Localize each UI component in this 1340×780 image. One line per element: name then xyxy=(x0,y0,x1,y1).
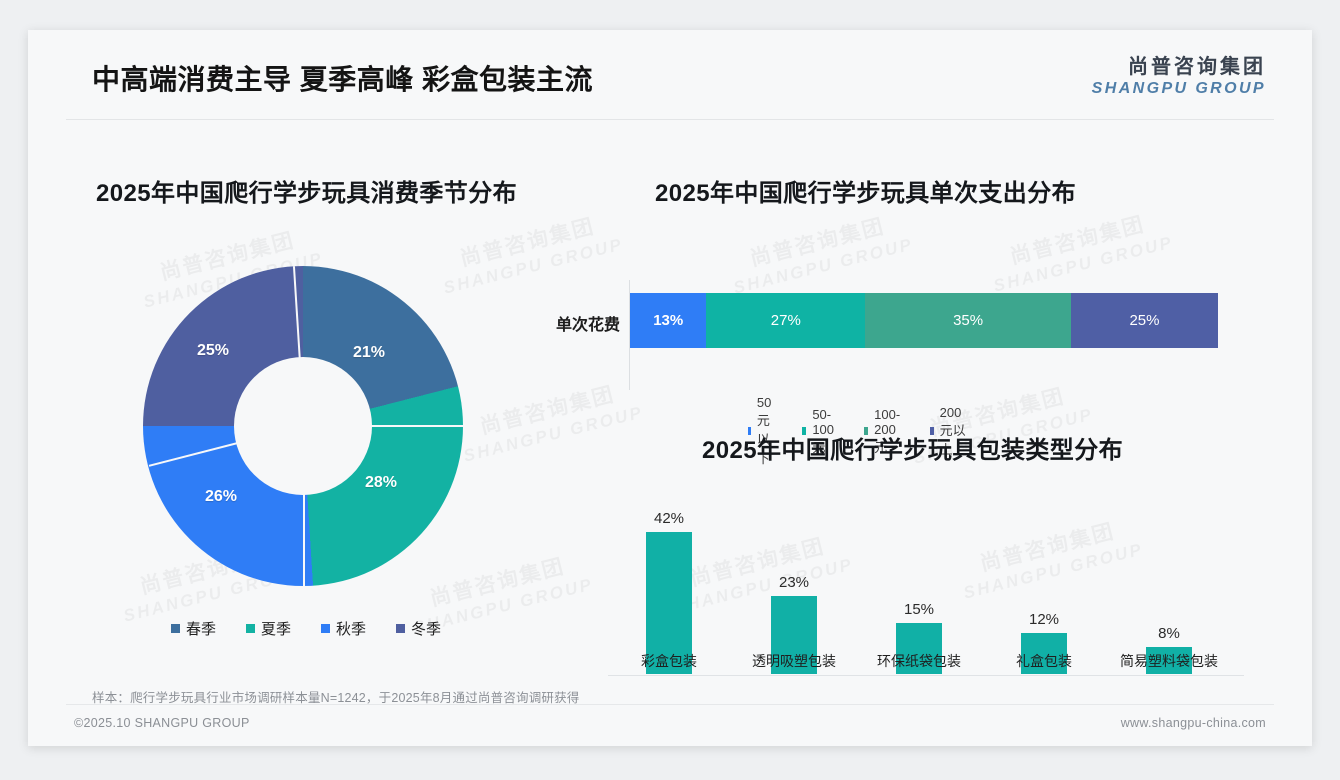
watermark-en: SHANGPU GROUP xyxy=(731,234,915,299)
slide-header: 中高端消费主导 夏季高峰 彩盒包装主流 尚普咨询集团 SHANGPU GROUP xyxy=(28,30,1312,120)
column-category-label: 礼盒包装 xyxy=(1016,651,1072,671)
donut-slice-label: 25% xyxy=(197,342,229,360)
legend-swatch-spring xyxy=(171,624,180,633)
donut-separator xyxy=(303,426,305,586)
column-chart-axis-line xyxy=(608,675,1244,676)
legend-item-autumn[interactable]: 秋季 xyxy=(321,618,366,639)
donut-separator xyxy=(304,425,464,427)
donut-chart-title: 2025年中国爬行学步玩具消费季节分布 xyxy=(96,173,517,208)
legend-item-spring[interactable]: 春季 xyxy=(171,618,216,639)
donut-chart: 21% 28% 26% 25% xyxy=(143,266,463,586)
watermark-cn: 尚普咨询集团 xyxy=(725,208,910,278)
column-group[interactable]: 12% 礼盒包装 xyxy=(1021,633,1067,675)
stacked-bar-segment-4[interactable]: 25% xyxy=(1071,293,1218,348)
legend-swatch-summer xyxy=(246,624,255,633)
column-value-label: 12% xyxy=(1029,611,1059,628)
column-category-label: 透明吸塑包装 xyxy=(752,651,836,671)
brand-logo: 尚普咨询集团 SHANGPU GROUP xyxy=(1092,56,1266,98)
watermark-en: SHANGPU GROUP xyxy=(441,234,625,299)
footer-website: www.shangpu-china.com xyxy=(1121,716,1266,730)
legend-label-winter: 冬季 xyxy=(411,618,441,639)
watermark: 尚普咨询集团 SHANGPU GROUP xyxy=(725,208,916,299)
stacked-bar-segment-2[interactable]: 27% xyxy=(706,293,865,348)
legend-label-spring: 春季 xyxy=(186,618,216,639)
donut-ring: 21% 28% 26% 25% xyxy=(143,266,463,586)
donut-slice-label: 26% xyxy=(205,488,237,506)
stacked-bar-title: 2025年中国爬行学步玩具单次支出分布 xyxy=(655,173,1076,208)
footer-copyright: ©2025.10 SHANGPU GROUP xyxy=(74,716,250,730)
watermark-cn: 尚普咨询集团 xyxy=(455,376,640,446)
stacked-bar-segment-1[interactable]: 13% xyxy=(630,293,706,348)
logo-cn-text: 尚普咨询集团 xyxy=(1092,56,1266,79)
column-value-label: 42% xyxy=(654,510,684,527)
legend-item-winter[interactable]: 冬季 xyxy=(396,618,441,639)
slide-canvas: 尚普咨询集团 SHANGPU GROUP 尚普咨询集团 SHANGPU GROU… xyxy=(28,30,1312,746)
stacked-bar-category-label: 单次花费 xyxy=(528,311,620,335)
watermark: 尚普咨询集团 SHANGPU GROUP xyxy=(455,376,646,467)
watermark: 尚普咨询集团 SHANGPU GROUP xyxy=(985,206,1176,297)
column-chart-title: 2025年中国爬行学步玩具包装类型分布 xyxy=(702,430,1123,465)
legend-item-summer[interactable]: 夏季 xyxy=(246,618,291,639)
legend-label-autumn: 秋季 xyxy=(336,618,366,639)
legend-label-summer: 夏季 xyxy=(261,618,291,639)
slide-footer: ©2025.10 SHANGPU GROUP www.shangpu-china… xyxy=(28,704,1312,746)
column-category-label: 彩盒包装 xyxy=(641,651,697,671)
column-value-label: 8% xyxy=(1158,625,1180,642)
legend-swatch-winter xyxy=(396,624,405,633)
donut-slice-label: 28% xyxy=(365,474,397,492)
column-value-label: 23% xyxy=(779,574,809,591)
watermark-en: SHANGPU GROUP xyxy=(461,402,645,467)
column-category-label: 简易塑料袋包装 xyxy=(1120,651,1218,671)
column-value-label: 15% xyxy=(904,601,934,618)
legend-swatch-autumn xyxy=(321,624,330,633)
donut-legend: 春季 夏季 秋季 冬季 xyxy=(171,618,441,639)
page-title: 中高端消费主导 夏季高峰 彩盒包装主流 xyxy=(92,58,593,98)
watermark: 尚普咨询集团 SHANGPU GROUP xyxy=(435,208,626,299)
watermark-en: SHANGPU GROUP xyxy=(991,232,1175,297)
column-category-label: 环保纸袋包装 xyxy=(877,651,961,671)
column-group[interactable]: 23% 透明吸塑包装 xyxy=(771,596,817,675)
column-group[interactable]: 42% 彩盒包装 xyxy=(646,532,692,675)
column-group[interactable]: 8% 简易塑料袋包装 xyxy=(1146,647,1192,675)
stacked-bar-track: 13% 27% 35% 25% xyxy=(630,293,1218,348)
column-group[interactable]: 15% 环保纸袋包装 xyxy=(896,623,942,675)
column-chart: 42% 彩盒包装 23% 透明吸塑包装 15% 环保纸袋包装 12% 礼盒包装 … xyxy=(604,500,1244,710)
stacked-bar-segment-3[interactable]: 35% xyxy=(865,293,1071,348)
donut-slice-label: 21% xyxy=(353,344,385,362)
watermark-cn: 尚普咨询集团 xyxy=(985,206,1170,276)
logo-en-text: SHANGPU GROUP xyxy=(1092,79,1266,98)
